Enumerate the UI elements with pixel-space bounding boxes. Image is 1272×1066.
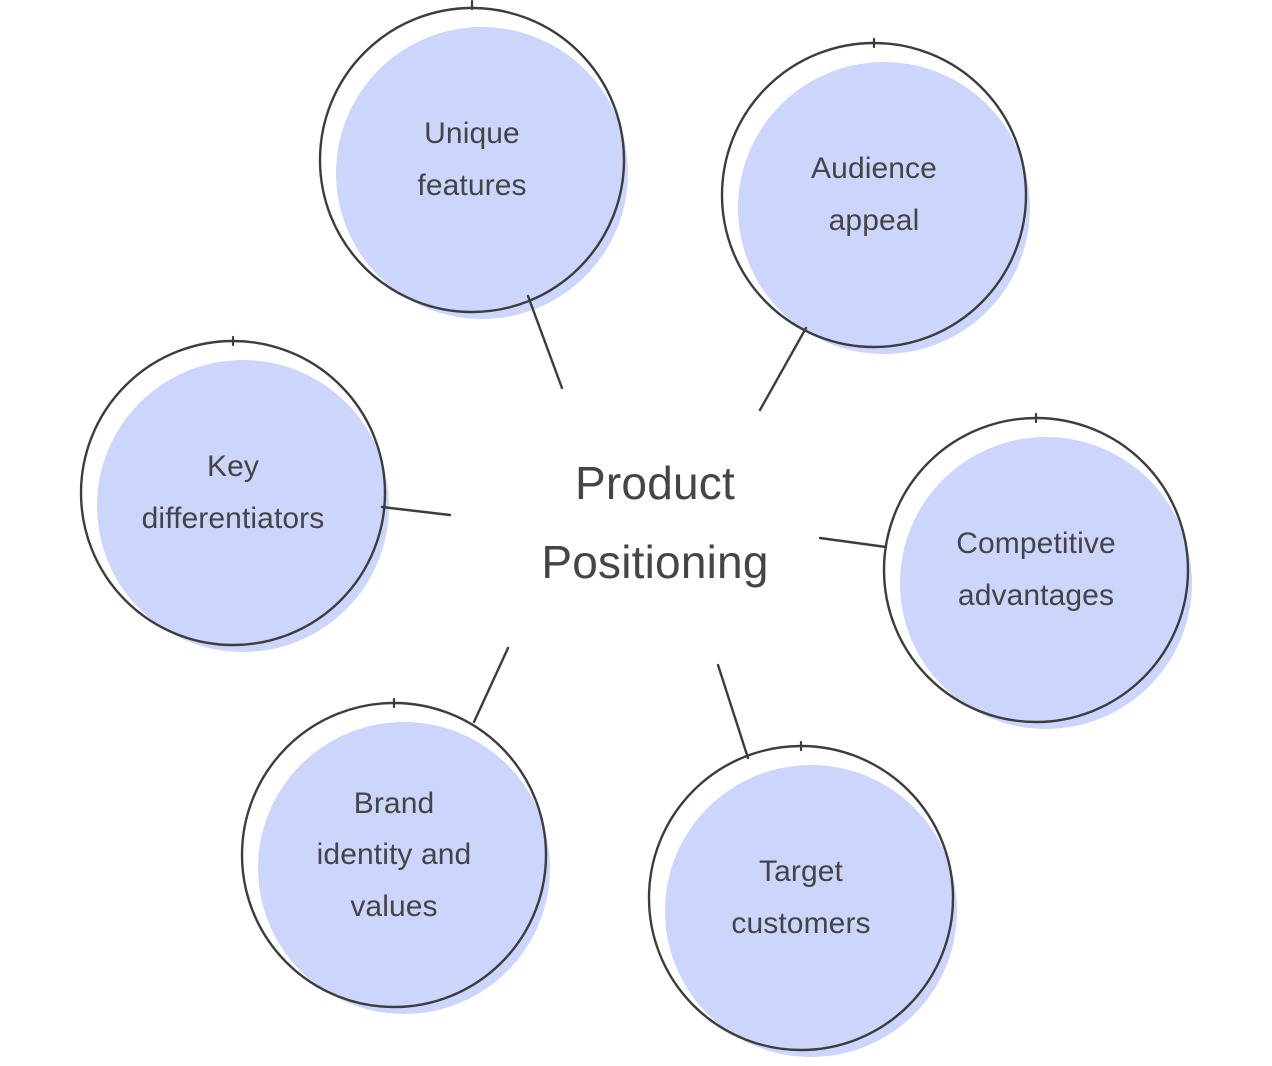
- diagram-canvas: Product Positioning Unique features Audi…: [0, 0, 1272, 1066]
- node-fill-target-customers: [665, 765, 957, 1057]
- node-fill-competitive-advantages: [900, 437, 1192, 729]
- node-fill-audience-appeal: [738, 62, 1030, 354]
- node-fill-key-differentiators: [97, 360, 389, 652]
- node-fills: [97, 27, 1192, 1057]
- connector-competitive-advantages: [820, 538, 886, 547]
- connector-audience-appeal: [760, 328, 806, 410]
- diagram-graphics: [0, 0, 1272, 1066]
- connectors: [382, 296, 886, 758]
- node-fill-unique-features: [336, 27, 628, 319]
- connector-target-customers: [718, 665, 748, 758]
- connector-key-differentiators: [382, 507, 450, 515]
- connector-brand-identity-and-values: [474, 648, 508, 722]
- connector-unique-features: [528, 296, 562, 388]
- node-fill-brand-identity-and-values: [258, 722, 550, 1014]
